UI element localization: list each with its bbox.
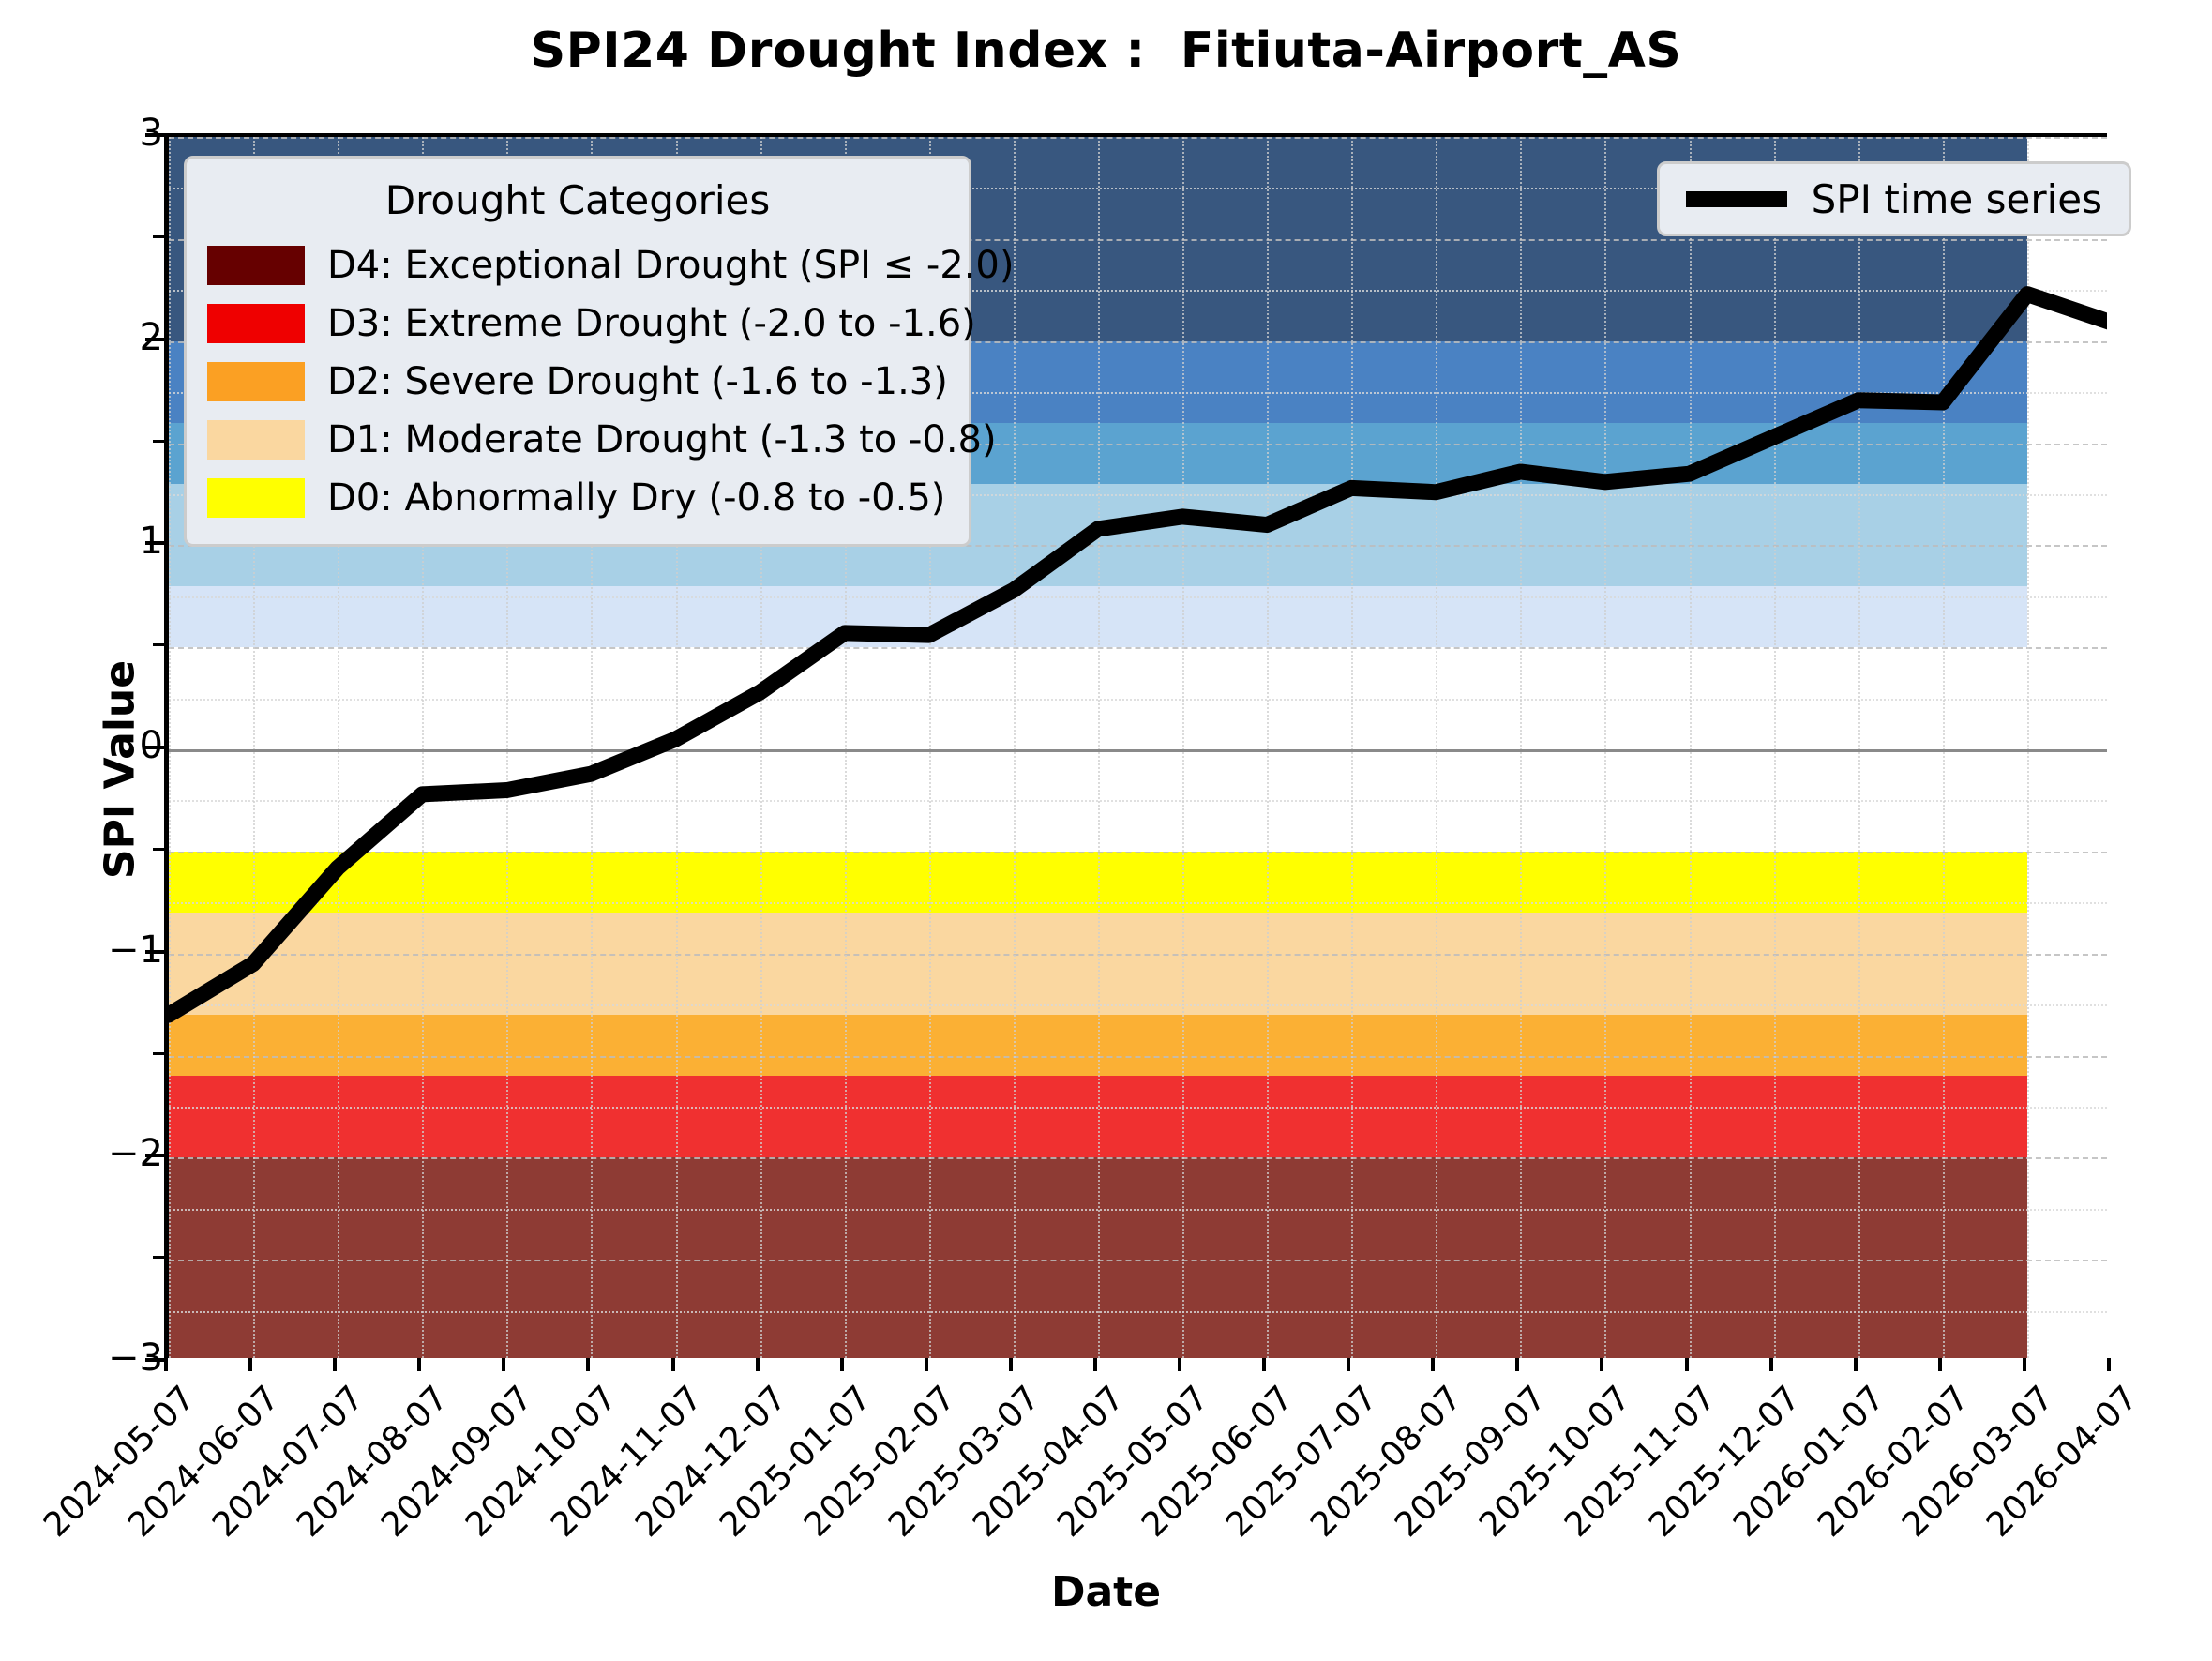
x-tick-mark — [1600, 1358, 1603, 1371]
x-tick-mark — [1515, 1358, 1519, 1371]
y-tick-label: 3 — [13, 112, 163, 155]
x-tick-mark — [1178, 1358, 1181, 1371]
legend-item-d1[interactable]: D1: Moderate Drought (-1.3 to -0.8) — [207, 411, 948, 469]
chart-title: SPI24 Drought Index : Fitiuta-Airport_AS — [0, 23, 2212, 79]
x-tick-mark — [1854, 1358, 1858, 1371]
y-tick-mark — [145, 541, 164, 545]
y-tick-mark-minor — [153, 848, 164, 851]
x-tick-mark — [671, 1358, 675, 1371]
y-tick-mark-minor — [153, 440, 164, 443]
y-tick-mark — [145, 746, 164, 749]
x-tick-mark — [164, 1358, 168, 1371]
y-tick-mark — [145, 950, 164, 954]
legend-color-swatch — [207, 246, 305, 285]
y-tick-mark-minor — [153, 643, 164, 646]
x-tick-mark — [1347, 1358, 1350, 1371]
x-tick-mark — [502, 1358, 505, 1371]
y-tick-mark-minor — [153, 1256, 164, 1259]
x-tick-mark — [417, 1358, 421, 1371]
series-legend[interactable]: SPI time series — [1657, 161, 2131, 236]
legend-rows: D4: Exceptional Drought (SPI ≤ -2.0)D3: … — [207, 236, 948, 527]
legend-item-d0[interactable]: D0: Abnormally Dry (-0.8 to -0.5) — [207, 469, 948, 527]
legend-color-swatch — [207, 304, 305, 343]
y-tick-mark — [145, 338, 164, 341]
legend-item-label: D1: Moderate Drought (-1.3 to -0.8) — [327, 418, 997, 461]
x-tick-mark — [333, 1358, 337, 1371]
x-tick-mark — [1769, 1358, 1773, 1371]
series-legend-label: SPI time series — [1812, 176, 2102, 222]
x-axis-label: Date — [0, 1568, 2212, 1616]
y-tick-label: 1 — [13, 520, 163, 563]
legend-item-d4[interactable]: D4: Exceptional Drought (SPI ≤ -2.0) — [207, 236, 948, 294]
y-tick-mark — [145, 133, 164, 137]
x-tick-mark — [1093, 1358, 1097, 1371]
legend-title: Drought Categories — [207, 177, 948, 223]
y-tick-label: 2 — [13, 316, 163, 359]
x-tick-mark — [1431, 1358, 1435, 1371]
series-line-swatch — [1686, 191, 1787, 207]
x-tick-mark — [2107, 1358, 2111, 1371]
x-tick-mark — [1009, 1358, 1013, 1371]
legend-item-label: D3: Extreme Drought (-2.0 to -1.6) — [327, 302, 976, 345]
legend-color-swatch — [207, 420, 305, 460]
legend-item-label: D2: Severe Drought (-1.6 to -1.3) — [327, 360, 948, 403]
y-tick-label: −3 — [13, 1336, 163, 1380]
x-tick-mark — [1262, 1358, 1266, 1371]
legend-color-swatch — [207, 478, 305, 518]
x-tick-mark — [1685, 1358, 1689, 1371]
y-tick-label: −2 — [13, 1132, 163, 1175]
legend-item-d3[interactable]: D3: Extreme Drought (-2.0 to -1.6) — [207, 294, 948, 353]
x-tick-mark — [756, 1358, 760, 1371]
y-tick-mark-minor — [153, 235, 164, 238]
x-tick-mark — [248, 1358, 252, 1371]
drought-categories-legend[interactable]: Drought Categories D4: Exceptional Droug… — [184, 156, 971, 547]
x-tick-mark — [2023, 1358, 2026, 1371]
x-tick-mark — [925, 1358, 928, 1371]
y-axis-label: SPI Value — [97, 601, 144, 939]
y-tick-mark-minor — [153, 1052, 164, 1055]
legend-item-label: D0: Abnormally Dry (-0.8 to -0.5) — [327, 476, 945, 520]
x-tick-mark — [840, 1358, 844, 1371]
y-tick-mark — [145, 1358, 164, 1362]
x-tick-mark — [1938, 1358, 1942, 1371]
x-tick-mark — [586, 1358, 590, 1371]
legend-item-d2[interactable]: D2: Severe Drought (-1.6 to -1.3) — [207, 353, 948, 411]
legend-item-label: D4: Exceptional Drought (SPI ≤ -2.0) — [327, 244, 1014, 287]
legend-color-swatch — [207, 362, 305, 401]
y-tick-mark — [145, 1154, 164, 1157]
